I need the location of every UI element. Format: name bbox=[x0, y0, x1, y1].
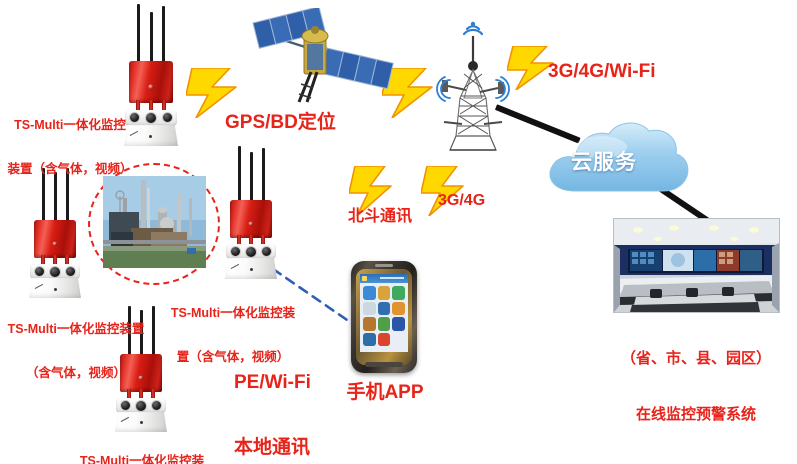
pda-app-icon[interactable] bbox=[392, 286, 405, 300]
antenna-rod bbox=[262, 148, 265, 204]
label-device-bottom-left: TS-Multi一体化监控装 置（含气体，视频） bbox=[72, 424, 212, 464]
label-device-mid-left: TS-Multi一体化监控装置 （含气体，视频） bbox=[0, 292, 152, 410]
pda-app-icon[interactable] bbox=[363, 286, 376, 300]
antenna-rod bbox=[150, 12, 153, 66]
camera-lens bbox=[246, 247, 256, 257]
label-beidou-comm: 北斗通讯 bbox=[348, 208, 428, 227]
pda-app-icon[interactable] bbox=[363, 302, 376, 316]
antenna-rod bbox=[152, 306, 155, 358]
pda-app-icon[interactable] bbox=[378, 302, 391, 316]
pda-app-icon[interactable] bbox=[363, 317, 376, 331]
label-line-2: 在线监控预警系统 bbox=[604, 406, 788, 425]
camera-lens bbox=[163, 113, 172, 122]
pda-app-icon[interactable] bbox=[392, 317, 405, 331]
antenna-rod bbox=[250, 152, 253, 204]
camera-lens bbox=[50, 267, 60, 277]
monitoring-device-center bbox=[212, 146, 290, 274]
cloud-label: 云服务 bbox=[571, 146, 637, 176]
label-control-room: （省、市、县、园区） 在线监控预警系统 bbox=[604, 312, 788, 462]
pda-screen[interactable] bbox=[360, 274, 408, 352]
label-gps-positioning: GPS/BD定位 bbox=[225, 112, 365, 134]
camera-lens bbox=[152, 401, 161, 410]
control-room-photo bbox=[613, 218, 780, 313]
label-line-1: PE/Wi-Fi bbox=[234, 372, 354, 394]
bolt-device-to-satellite bbox=[186, 68, 248, 118]
camera-lens bbox=[35, 267, 44, 276]
pda-app-grid[interactable] bbox=[363, 286, 405, 346]
label-line-1: TS-Multi一体化监控装 bbox=[72, 454, 212, 464]
pda-app-titlebar bbox=[360, 274, 408, 283]
label-device-top-left: TS-Multi一体化监控 装置（含气体，视频） bbox=[4, 88, 136, 206]
label-line-1: （省、市、县、园区） bbox=[604, 350, 788, 369]
device-indicator-dot bbox=[149, 135, 152, 138]
pda-app-icon[interactable] bbox=[363, 333, 376, 347]
pda-speaker bbox=[375, 264, 393, 267]
pda-app-icon[interactable] bbox=[392, 302, 405, 316]
antenna-rod bbox=[162, 6, 165, 66]
camera-lens bbox=[146, 113, 156, 123]
antenna-rod bbox=[238, 146, 241, 204]
label-line-1: TS-Multi一体化监控装置 bbox=[0, 322, 152, 337]
label-line-2: （含气体，视频） bbox=[0, 366, 152, 381]
diagram-canvas: 云服务 bbox=[0, 0, 797, 464]
device-indicator-dot bbox=[250, 268, 253, 271]
label-line-2: 装置（含气体，视频） bbox=[4, 162, 136, 177]
camera-lens bbox=[231, 247, 240, 256]
label-3g4g-wifi: 3G/4G/Wi-Fi bbox=[548, 61, 708, 83]
device-red-body bbox=[34, 220, 76, 258]
camera-lens bbox=[66, 267, 75, 276]
pda-bottom-bar bbox=[365, 362, 403, 367]
pda-app-icon[interactable] bbox=[378, 333, 391, 347]
pda-app-icon[interactable] bbox=[378, 317, 391, 331]
label-mobile-app: 手机APP bbox=[338, 382, 432, 404]
label-line-1: TS-Multi一体化监控 bbox=[4, 118, 136, 133]
device-red-body bbox=[230, 200, 272, 238]
mobile-app-device[interactable] bbox=[351, 261, 417, 373]
label-line-1: TS-Multi一体化监控装 bbox=[163, 306, 303, 321]
label-line-2: 本地通讯 bbox=[234, 437, 354, 459]
pda-app-icon[interactable] bbox=[378, 286, 391, 300]
cell-tower-icon bbox=[430, 18, 516, 158]
camera-lens bbox=[262, 247, 271, 256]
label-local-comm: PE/Wi-Fi 本地通讯 bbox=[234, 328, 354, 464]
pda-app-icon bbox=[392, 333, 405, 347]
antenna-rod bbox=[137, 4, 140, 66]
device-indicator-dot bbox=[54, 288, 57, 291]
satellite-icon bbox=[243, 8, 403, 108]
label-3g4g: 3G/4G bbox=[438, 192, 518, 211]
